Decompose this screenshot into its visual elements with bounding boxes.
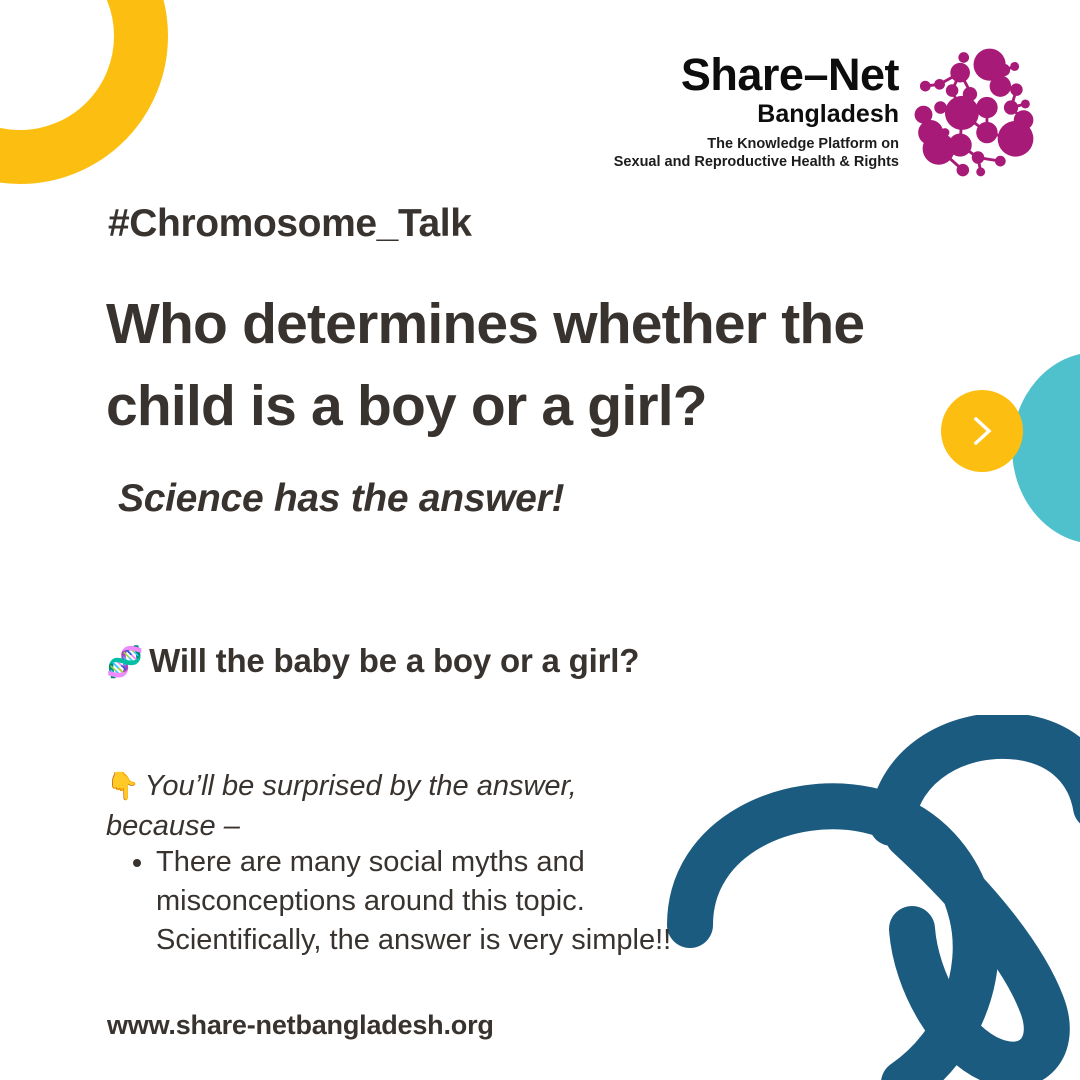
dna-icon: 🧬 (106, 646, 143, 679)
brand-logo: Share–Net Bangladesh The Knowledge Platf… (650, 42, 1045, 182)
pointing-down-icon: 👇 (106, 771, 140, 801)
decorative-teal-circle (1012, 352, 1080, 544)
social-post-canvas: Share–Net Bangladesh The Knowledge Platf… (0, 0, 1080, 1080)
brand-tagline-line-2: Sexual and Reproductive Health & Rights (614, 154, 899, 172)
bullet-list: There are many social myths and misconce… (120, 843, 716, 960)
hashtag-label: #Chromosome_Talk (108, 202, 472, 246)
subheadline: Science has the answer! (118, 477, 564, 521)
decorative-yellow-ring (0, 0, 168, 184)
decorative-blue-knot (660, 715, 1080, 1080)
note-paragraph: 👇You’ll be surprised by the answer, beca… (106, 766, 686, 846)
brand-country: Bangladesh (614, 99, 899, 130)
website-url[interactable]: www.share-netbangladesh.org (107, 1010, 494, 1041)
next-arrow-button[interactable] (941, 390, 1023, 472)
brand-logo-text: Share–Net Bangladesh The Knowledge Platf… (614, 52, 911, 172)
chevron-right-icon (965, 414, 999, 448)
brand-name: Share–Net (614, 52, 899, 97)
note-text: You’ll be surprised by the answer, becau… (106, 770, 577, 842)
network-nodes-icon (911, 45, 1045, 179)
headline: Who determines whether the child is a bo… (106, 283, 966, 447)
brand-tagline-line-1: The Knowledge Platform on (614, 136, 899, 154)
dna-heading: 🧬Will the baby be a boy or a girl? (106, 632, 706, 691)
dna-heading-text: Will the baby be a boy or a girl? (149, 642, 639, 679)
list-item: There are many social myths and misconce… (156, 843, 716, 960)
